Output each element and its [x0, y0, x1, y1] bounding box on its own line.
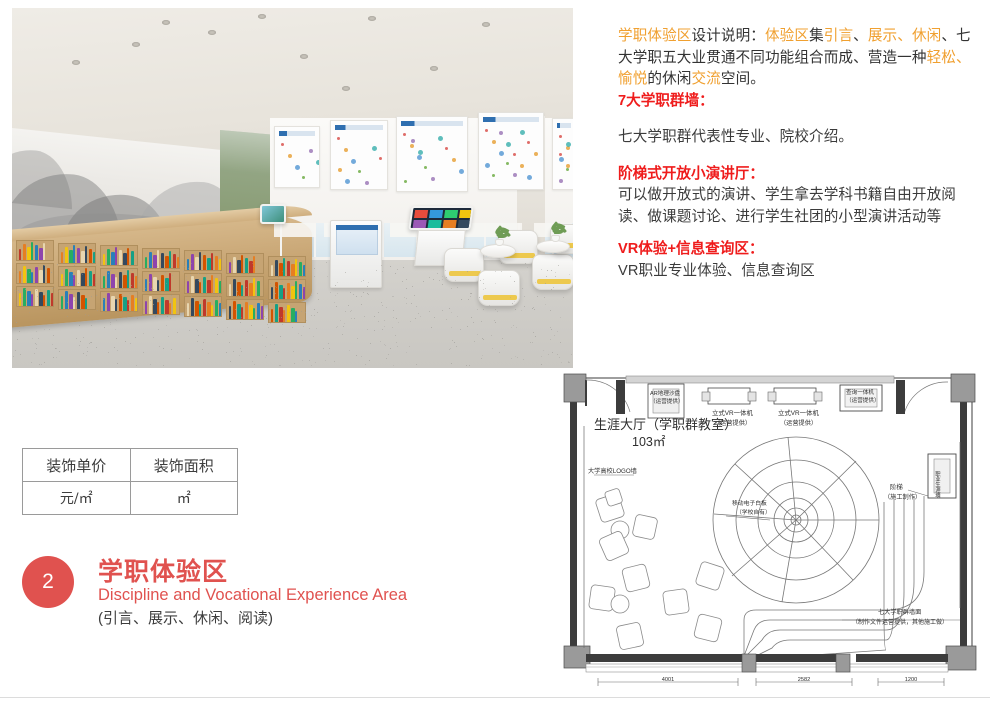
- floor-fleck: [36, 344, 37, 345]
- floor-fleck: [38, 265, 39, 266]
- floor-fleck: [559, 357, 560, 358]
- floor-fleck: [49, 329, 50, 330]
- floor-fleck: [318, 299, 319, 300]
- floor-fleck: [186, 276, 187, 277]
- floor-fleck: [186, 279, 187, 280]
- floor-fleck: [262, 335, 263, 336]
- table-header-row: 装饰单价 装饰面积: [23, 449, 238, 482]
- floor-fleck: [153, 337, 154, 338]
- floor-fleck: [87, 351, 88, 352]
- floor-fleck: [532, 342, 533, 343]
- plan-dimension-3: 1200: [905, 677, 917, 683]
- floor-fleck: [19, 331, 20, 332]
- floor-fleck: [78, 312, 79, 313]
- floor-fleck: [353, 294, 354, 295]
- floor-fleck: [334, 361, 335, 362]
- floor-fleck: [143, 352, 144, 353]
- floor-fleck: [282, 281, 283, 282]
- floor-fleck: [188, 268, 189, 269]
- floor-fleck: [298, 270, 299, 271]
- floor-fleck: [171, 295, 172, 296]
- floor-fleck: [483, 339, 484, 340]
- floor-fleck: [474, 341, 475, 342]
- floor-fleck: [280, 365, 281, 366]
- floor-fleck: [62, 278, 63, 279]
- plan-label-vr-kiosk-2-sub: （运营提供）: [780, 419, 817, 427]
- interior-rendering-photo: [12, 8, 573, 368]
- floor-fleck: [44, 329, 45, 330]
- floor-fleck: [494, 320, 495, 321]
- floor-fleck: [116, 320, 117, 321]
- floor-fleck: [246, 287, 247, 288]
- floor-fleck: [41, 364, 42, 365]
- floor-fleck: [381, 265, 382, 266]
- floor-fleck: [563, 297, 564, 298]
- floor-fleck: [543, 350, 544, 351]
- floor-fleck: [423, 281, 424, 282]
- floor-fleck: [168, 336, 169, 337]
- plan-label-logo-wall: 大学高校LOGO墙: [588, 467, 637, 475]
- floor-fleck: [311, 365, 312, 366]
- floor-fleck: [442, 276, 443, 277]
- floor-fleck: [21, 274, 22, 275]
- floor-fleck: [335, 295, 336, 296]
- floor-fleck: [445, 270, 446, 271]
- plan-label-steps-sub: （施工制作）: [884, 493, 921, 501]
- floor-fleck: [314, 315, 315, 316]
- floor-fleck: [198, 335, 199, 336]
- floor-fleck: [390, 348, 391, 349]
- floor-fleck: [553, 287, 554, 288]
- floor-fleck: [480, 270, 481, 271]
- floor-fleck: [317, 293, 318, 294]
- floor-fleck: [521, 310, 522, 311]
- floor-fleck: [87, 347, 88, 348]
- floor-fleck: [301, 335, 302, 336]
- shelf-bay: [58, 243, 96, 264]
- floor-fleck: [233, 351, 234, 352]
- floor-fleck: [44, 265, 45, 266]
- floor-fleck: [289, 312, 290, 313]
- floor-fleck: [293, 351, 294, 352]
- floor-fleck: [301, 277, 302, 278]
- floor-fleck: [136, 365, 137, 366]
- floor-fleck: [384, 326, 385, 327]
- ceiling-spotlight: [72, 60, 80, 65]
- info-poster: [396, 116, 468, 192]
- info-poster: [478, 112, 544, 190]
- floor-fleck: [541, 356, 542, 357]
- floor-fleck: [450, 348, 451, 349]
- shelf-bay: [142, 248, 180, 269]
- floor-fleck: [74, 265, 75, 266]
- floor-fleck: [87, 281, 88, 282]
- floor-fleck: [283, 313, 284, 314]
- floor-fleck: [461, 299, 462, 300]
- floor-fleck: [390, 266, 391, 267]
- floor-fleck: [139, 282, 140, 283]
- floor-fleck: [207, 320, 208, 321]
- floor-fleck: [483, 289, 484, 290]
- shelf-bay: [142, 294, 180, 315]
- floor-fleck: [281, 317, 282, 318]
- cell-unit-price-value: 元/㎡: [23, 482, 131, 515]
- floor-fleck: [305, 312, 306, 313]
- floor-fleck: [325, 360, 326, 361]
- shelf-bay: [142, 271, 180, 292]
- floor-fleck: [174, 269, 175, 270]
- floor-fleck: [89, 267, 90, 268]
- floor-fleck: [155, 316, 156, 317]
- floor-fleck: [79, 325, 80, 326]
- floor-fleck: [477, 334, 478, 335]
- floor-fleck: [297, 262, 298, 263]
- floor-fleck: [64, 296, 65, 297]
- floor-fleck: [382, 329, 383, 330]
- floor-fleck: [163, 365, 164, 366]
- floor-fleck: [53, 357, 54, 358]
- floor-fleck: [267, 324, 268, 325]
- floor-fleck: [393, 365, 394, 366]
- floor-fleck: [128, 288, 129, 289]
- floor-fleck: [266, 337, 267, 338]
- floor-fleck: [117, 363, 118, 364]
- floor-fleck: [568, 362, 569, 363]
- floor-fleck: [429, 311, 430, 312]
- floor-fleck: [131, 285, 132, 286]
- floor-fleck: [530, 342, 531, 343]
- floor-fleck: [163, 348, 164, 349]
- floor-fleck: [560, 342, 561, 343]
- floor-fleck: [370, 343, 371, 344]
- floor-fleck: [416, 364, 417, 365]
- floor-fleck: [442, 310, 443, 311]
- floor-fleck: [297, 270, 298, 271]
- floor-fleck: [541, 269, 542, 270]
- floor-fleck: [449, 308, 450, 309]
- floor-fleck: [314, 268, 315, 269]
- floor-fleck: [470, 296, 471, 297]
- floor-fleck: [85, 314, 86, 315]
- plan-label-seven-wall-sub: （制作文件运营提供，其他施工做）: [852, 618, 948, 626]
- floor-fleck: [409, 346, 410, 347]
- plan-label-seven-wall: 七大学职群墙面: [878, 608, 921, 616]
- floor-fleck: [150, 364, 151, 365]
- floor-fleck: [153, 289, 154, 290]
- plan-label-ar-sandbox-sub: （运营提供）: [650, 397, 684, 405]
- floor-fleck: [292, 289, 293, 290]
- floor-fleck: [36, 348, 37, 349]
- floor-fleck: [217, 334, 218, 335]
- floor-fleck: [551, 270, 552, 271]
- shelf-bay: [268, 279, 306, 300]
- floor-fleck: [367, 329, 368, 330]
- floor-fleck: [108, 352, 109, 353]
- floor-fleck: [191, 263, 192, 264]
- floor-fleck: [396, 342, 397, 343]
- floor-fleck: [354, 318, 355, 319]
- floor-fleck: [17, 272, 18, 273]
- floor-fleck: [17, 339, 18, 340]
- ceiling-spotlight: [132, 42, 140, 47]
- floor-fleck: [157, 266, 158, 267]
- section-number-badge: 2: [22, 556, 74, 608]
- floor-fleck: [225, 305, 226, 306]
- floor-fleck: [368, 294, 369, 295]
- floor-fleck: [266, 318, 267, 319]
- floor-fleck: [191, 296, 192, 297]
- section-body-2: 可以做开放式的演讲、学生拿去学科书籍自由开放阅读、做课题讨论、进行学生社团的小型…: [618, 185, 978, 228]
- floor-fleck: [72, 274, 73, 275]
- floor-fleck: [229, 342, 230, 343]
- floor-fleck: [546, 276, 547, 277]
- floor-fleck: [132, 270, 133, 271]
- floor-fleck: [227, 327, 228, 328]
- floor-fleck: [514, 281, 515, 282]
- floor-fleck: [203, 342, 204, 343]
- floor-fleck: [56, 357, 57, 358]
- floor-fleck: [108, 273, 109, 274]
- ceiling-spotlight: [162, 20, 170, 25]
- floor-fleck: [14, 292, 15, 293]
- ceiling-spotlight: [482, 22, 490, 27]
- floor-fleck: [368, 282, 369, 283]
- floor-fleck: [190, 271, 191, 272]
- floor-fleck: [252, 263, 253, 264]
- floor-fleck: [504, 345, 505, 346]
- floor-fleck: [501, 263, 502, 264]
- floor-fleck: [142, 268, 143, 269]
- floor-fleck: [301, 311, 302, 312]
- floor-fleck: [402, 281, 403, 282]
- floor-fleck: [212, 293, 213, 294]
- floor-fleck: [431, 327, 432, 328]
- floor-fleck: [137, 318, 138, 319]
- floor-fleck: [363, 280, 364, 281]
- floor-fleck: [138, 302, 139, 303]
- floor-fleck: [451, 312, 452, 313]
- floor-fleck: [469, 365, 470, 366]
- plan-label-steps: 阶梯: [890, 482, 903, 491]
- floor-fleck: [398, 322, 399, 323]
- floor-fleck: [58, 291, 59, 292]
- floor-fleck: [247, 331, 248, 332]
- floor-fleck: [452, 340, 453, 341]
- floor-fleck: [89, 343, 90, 344]
- shelf-bay: [184, 250, 222, 271]
- floor-fleck: [495, 271, 496, 272]
- floor-fleck: [292, 327, 293, 328]
- floor-fleck: [122, 263, 123, 264]
- floor-fleck: [16, 322, 17, 323]
- plan-label-info-terminal-sub: （运营提供）: [846, 396, 880, 404]
- floor-fleck: [20, 298, 21, 299]
- floor-fleck: [134, 276, 135, 277]
- floor-fleck: [20, 354, 21, 355]
- green-wall-highlight: [220, 130, 274, 175]
- floor-fleck: [151, 288, 152, 289]
- footer-divider: [0, 697, 990, 698]
- col-header-area: 装饰面积: [130, 449, 238, 482]
- floor-fleck: [274, 299, 275, 300]
- floor-fleck: [51, 272, 52, 273]
- floor-fleck: [335, 285, 336, 286]
- floor-fleck: [492, 348, 493, 349]
- floor-fleck: [56, 348, 57, 349]
- floor-fleck: [96, 295, 97, 296]
- section-title-en: Discipline and Vocational Experience Are…: [98, 586, 407, 605]
- floor-fleck: [34, 353, 35, 354]
- floor-fleck: [554, 335, 555, 336]
- floor-fleck: [364, 316, 365, 317]
- floor-fleck: [15, 320, 16, 321]
- floor-fleck: [59, 351, 60, 352]
- floor-fleck: [83, 353, 84, 354]
- floor-fleck: [410, 321, 411, 322]
- floor-fleck: [356, 355, 357, 356]
- floor-fleck: [142, 315, 143, 316]
- floor-fleck: [121, 295, 122, 296]
- floor-fleck: [317, 312, 318, 313]
- floor-fleck: [515, 356, 516, 357]
- floor-fleck: [104, 327, 105, 328]
- floor-fleck: [266, 355, 267, 356]
- floor-fleck: [342, 334, 343, 335]
- floor-fleck: [384, 320, 385, 321]
- floor-fleck: [298, 333, 299, 334]
- floor-fleck: [18, 290, 19, 291]
- floor-fleck: [533, 332, 534, 333]
- plan-label-whiteboard-sub: （学校自有）: [736, 508, 771, 516]
- floor-fleck: [482, 338, 483, 339]
- floor-fleck: [535, 336, 536, 337]
- ceiling-spotlight: [368, 16, 376, 21]
- table-plant: [492, 226, 506, 246]
- shelf-bay: [226, 276, 264, 297]
- floor-fleck: [378, 312, 379, 313]
- floor-fleck: [491, 335, 492, 336]
- floor-fleck: [361, 296, 362, 297]
- floor-fleck: [286, 307, 287, 308]
- ceiling-spotlight: [258, 14, 266, 19]
- floor-fleck: [397, 269, 398, 270]
- floor-fleck: [326, 262, 327, 263]
- floor-fleck: [237, 291, 238, 292]
- floor-fleck: [223, 331, 224, 332]
- floor-fleck: [198, 280, 199, 281]
- floor-fleck: [38, 338, 39, 339]
- floor-plan-drawing: 生涯大厅（学职群教室） 103㎡ 大学高校LOGO墙 AR地理沙盘 （运营提供）…: [556, 368, 990, 693]
- col-header-unit-price: 装饰单价: [23, 449, 131, 482]
- floor-fleck: [241, 317, 242, 318]
- floor-fleck: [239, 355, 240, 356]
- floor-fleck: [22, 297, 23, 298]
- floor-fleck: [437, 273, 438, 274]
- section-body-3: VR职业专业体验、信息查询区: [618, 261, 978, 283]
- plan-room-area: 103㎡: [632, 435, 666, 449]
- floor-fleck: [145, 288, 146, 289]
- floor-fleck: [125, 341, 126, 342]
- info-poster: [552, 118, 573, 190]
- floor-fleck: [96, 265, 97, 266]
- shelf-bay: [16, 240, 54, 261]
- floor-fleck: [442, 284, 443, 285]
- floor-fleck: [351, 318, 352, 319]
- floor-fleck: [287, 291, 288, 292]
- floor-fleck: [412, 286, 413, 287]
- floor-fleck: [537, 296, 538, 297]
- floor-fleck: [16, 306, 17, 307]
- floor-fleck: [547, 270, 548, 271]
- section-body-1: 七大学职群代表性专业、院校介绍。: [618, 127, 978, 149]
- plan-label-career-wall: 职业生涯墙: [934, 471, 941, 500]
- floor-fleck: [218, 296, 219, 297]
- floor-fleck: [557, 331, 558, 332]
- floor-fleck: [302, 360, 303, 361]
- floor-fleck: [303, 288, 304, 289]
- floor-fleck: [336, 327, 337, 328]
- floor-fleck: [252, 361, 253, 362]
- section-heading-1: 7大学职群墙：: [618, 91, 978, 113]
- floor-fleck: [532, 308, 533, 309]
- floor-fleck: [31, 362, 32, 363]
- plan-label-whiteboard: 移动电子白板: [732, 499, 767, 507]
- floor-fleck: [337, 326, 338, 327]
- floor-fleck: [510, 276, 511, 277]
- shelf-bay: [100, 245, 138, 266]
- floor-fleck: [157, 298, 158, 299]
- floor-fleck: [25, 289, 26, 290]
- floor-fleck: [88, 315, 89, 316]
- floor-fleck: [83, 337, 84, 338]
- floor-fleck: [68, 268, 69, 269]
- floor-fleck: [202, 349, 203, 350]
- floor-fleck: [53, 335, 54, 336]
- floor-fleck: [485, 288, 486, 289]
- floor-fleck: [265, 357, 266, 358]
- floor-fleck: [516, 327, 517, 328]
- floor-fleck: [54, 287, 55, 288]
- floor-fleck: [119, 298, 120, 299]
- floor-fleck: [495, 283, 496, 284]
- floor-fleck: [434, 317, 435, 318]
- floor-fleck: [282, 271, 283, 272]
- floor-fleck: [393, 310, 394, 311]
- floor-fleck: [90, 342, 91, 343]
- floor-fleck: [522, 288, 523, 289]
- floor-fleck: [328, 343, 329, 344]
- ceiling-spotlight: [342, 86, 350, 91]
- floor-fleck: [313, 336, 314, 337]
- floor-fleck: [91, 296, 92, 297]
- plan-label-ar-sandbox: AR地理沙盘: [650, 389, 681, 397]
- floor-fleck: [293, 285, 294, 286]
- floor-fleck: [206, 274, 207, 275]
- floor-fleck: [311, 295, 312, 296]
- floor-fleck: [502, 338, 503, 339]
- lounge-chair: [532, 254, 573, 290]
- floor-fleck: [36, 331, 37, 332]
- wall-monitor: [260, 204, 286, 224]
- floor-fleck: [439, 280, 440, 281]
- floor-fleck: [363, 292, 364, 293]
- floor-fleck: [96, 347, 97, 348]
- floor-fleck: [270, 283, 271, 284]
- floor-fleck: [497, 311, 498, 312]
- floor-fleck: [451, 327, 452, 328]
- floor-fleck: [350, 311, 351, 312]
- floor-fleck: [75, 269, 76, 270]
